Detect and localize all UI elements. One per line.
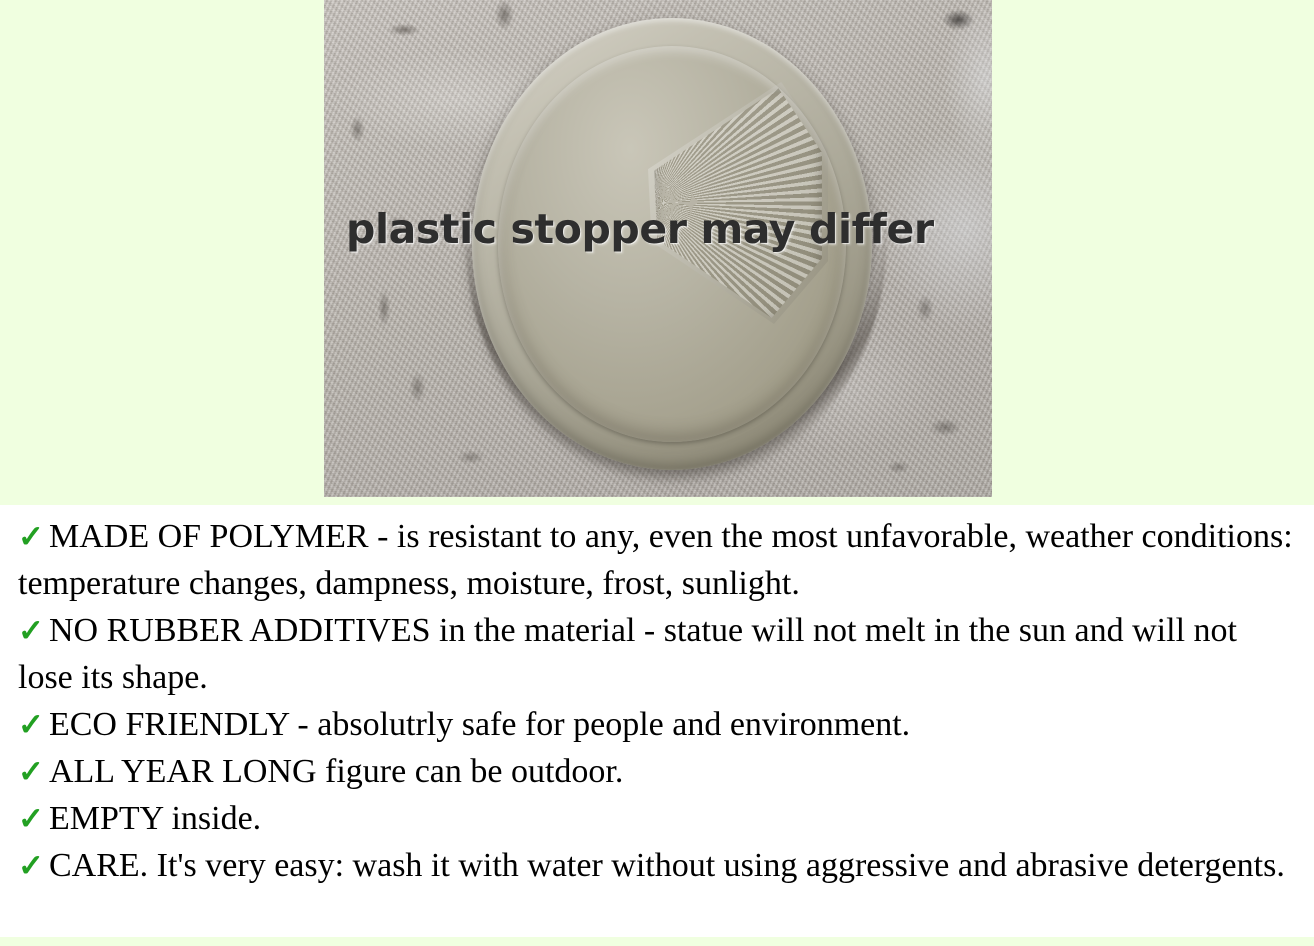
feature-text: ECO FRIENDLY - absolutrly safe for peopl…: [49, 706, 910, 743]
feature-text: NO RUBBER ADDITIVES in the material - st…: [18, 612, 1237, 696]
page-bottom-strip: [0, 937, 1314, 946]
check-icon: ✓: [18, 848, 49, 883]
feature-text: EMPTY inside.: [49, 800, 261, 837]
features-panel: ✓MADE OF POLYMER - is resistant to any, …: [0, 505, 1314, 937]
check-icon: ✓: [18, 707, 49, 742]
feature-item: ✓ECO FRIENDLY - absolutrly safe for peop…: [18, 701, 1300, 748]
feature-item: ✓NO RUBBER ADDITIVES in the material - s…: [18, 607, 1300, 701]
check-icon: ✓: [18, 613, 49, 648]
feature-item: ✓ALL YEAR LONG figure can be outdoor.: [18, 748, 1300, 795]
feature-item: ✓EMPTY inside.: [18, 795, 1300, 842]
product-photo: plastic stopper may differ: [324, 0, 992, 497]
photo-overlay-caption: plastic stopper may differ: [346, 205, 992, 253]
feature-text: CARE. It's very easy: wash it with water…: [49, 847, 1285, 884]
check-icon: ✓: [18, 801, 49, 836]
feature-text: ALL YEAR LONG figure can be outdoor.: [49, 753, 623, 790]
feature-item: ✓CARE. It's very easy: wash it with wate…: [18, 842, 1300, 889]
feature-text: MADE OF POLYMER - is resistant to any, e…: [18, 518, 1293, 602]
check-icon: ✓: [18, 754, 49, 789]
check-icon: ✓: [18, 519, 49, 554]
feature-item: ✓MADE OF POLYMER - is resistant to any, …: [18, 513, 1300, 607]
